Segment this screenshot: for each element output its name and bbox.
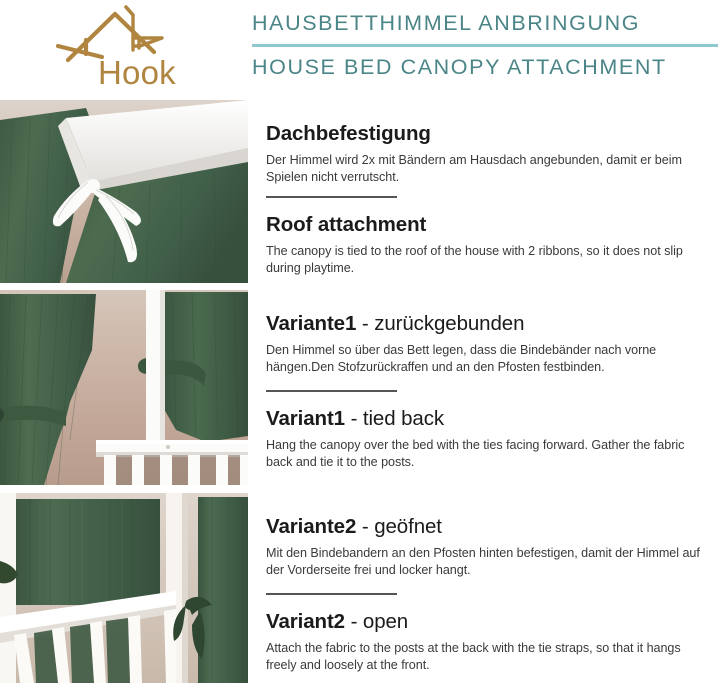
photo-canopy-open-hanging-loose <box>0 493 248 683</box>
heading-de-bold: Dachbefestigung <box>266 122 431 145</box>
heading-en: Variant2 - open <box>266 610 712 635</box>
heading-de-rest: - geöfnet <box>356 515 442 538</box>
heading-en: Variant1 - tied back <box>266 407 712 432</box>
page-title-de: HAUSBETTHIMMEL ANBRINGUNG <box>252 11 718 36</box>
section-divider <box>266 593 397 595</box>
body-en: Hang the canopy over the bed with the ti… <box>266 437 712 473</box>
block-en: Variant1 - tied back Hang the canopy ove… <box>266 407 712 472</box>
block-en: Variant2 - open Attach the fabric to the… <box>266 610 712 675</box>
body-de: Den Himmel so über das Bett legen, dass … <box>266 342 712 378</box>
heading-en-bold: Variant1 <box>266 407 345 430</box>
body-en: Attach the fabric to the posts at the ba… <box>266 640 712 676</box>
section-roof-attachment: Dachbefestigung Der Himmel wird 2x mit B… <box>0 100 720 283</box>
brand-logo: Hook <box>40 2 230 100</box>
heading-en-rest: - tied back <box>345 407 444 430</box>
section-variant1-tied-back: Variante1 - zurückgebunden Den Himmel so… <box>0 290 720 485</box>
heading-de: Dachbefestigung <box>266 122 712 147</box>
page-header: Hook HAUSBETTHIMMEL ANBRINGUNG HOUSE BED… <box>0 0 720 100</box>
section-text-variant1: Variante1 - zurückgebunden Den Himmel so… <box>266 290 712 485</box>
photo-canopy-tied-to-roof-beam <box>0 100 248 283</box>
brand-wordmark: Hook <box>98 56 176 89</box>
section-divider <box>266 390 397 392</box>
section-variant2-open: Variante2 - geöfnet Mit den Bindebandern… <box>0 493 720 683</box>
heading-en-bold: Roof attachment <box>266 213 426 236</box>
heading-en: Roof attachment <box>266 213 712 238</box>
body-de: Mit den Bindebandern an den Pfosten hint… <box>266 545 712 581</box>
infographic-page: Hook HAUSBETTHIMMEL ANBRINGUNG HOUSE BED… <box>0 0 720 683</box>
section-divider <box>266 196 397 198</box>
heading-de: Variante2 - geöfnet <box>266 515 712 540</box>
heading-de: Variante1 - zurückgebunden <box>266 312 712 337</box>
header-divider <box>252 44 718 47</box>
header-title-group: HAUSBETTHIMMEL ANBRINGUNG HOUSE BED CANO… <box>252 8 718 79</box>
heading-en-rest: - open <box>345 610 408 633</box>
block-en: Roof attachment The canopy is tied to th… <box>266 213 712 278</box>
section-text-variant2: Variante2 - geöfnet Mit den Bindebandern… <box>266 493 712 683</box>
body-en: The canopy is tied to the roof of the ho… <box>266 243 712 279</box>
heading-en-bold: Variant2 <box>266 610 345 633</box>
section-text-roof-attachment: Dachbefestigung Der Himmel wird 2x mit B… <box>266 100 712 283</box>
heading-de-bold: Variante2 <box>266 515 356 538</box>
heading-de-rest: - zurückgebunden <box>356 312 524 335</box>
block-de: Variante2 - geöfnet Mit den Bindebandern… <box>266 515 712 580</box>
photo-curtains-tied-back-to-posts <box>0 290 248 485</box>
block-de: Variante1 - zurückgebunden Den Himmel so… <box>266 312 712 377</box>
heading-de-bold: Variante1 <box>266 312 356 335</box>
block-de: Dachbefestigung Der Himmel wird 2x mit B… <box>266 122 712 187</box>
page-title-en: HOUSE BED CANOPY ATTACHMENT <box>252 55 718 80</box>
body-de: Der Himmel wird 2x mit Bändern am Hausda… <box>266 152 712 188</box>
